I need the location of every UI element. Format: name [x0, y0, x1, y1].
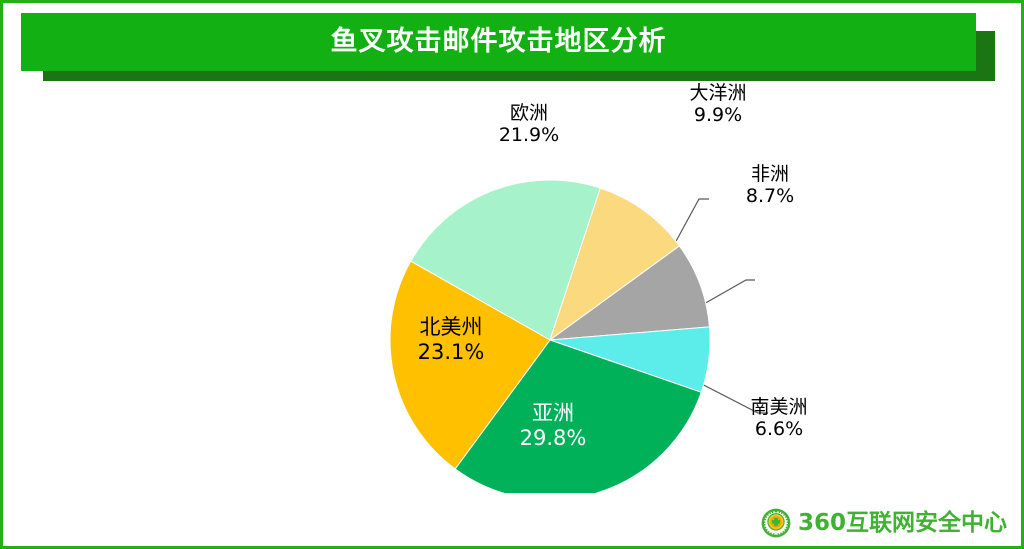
pie-label-europe-percent: 21.9%	[469, 124, 589, 146]
pie-label-oceania-percent: 9.9%	[658, 104, 778, 126]
pie-label-europe: 欧洲 21.9%	[469, 102, 589, 147]
pie-label-asia-percent: 29.8%	[493, 426, 613, 451]
pie-label-africa: 非洲 8.7%	[710, 163, 830, 208]
pie-label-asia: 亚洲 29.8%	[493, 401, 613, 451]
pie-label-north-america-name: 北美州	[391, 315, 511, 340]
pie-label-south-america-percent: 6.6%	[719, 418, 839, 440]
title-bar: 鱼叉攻击邮件攻击地区分析	[21, 13, 976, 71]
page-title: 鱼叉攻击邮件攻击地区分析	[21, 13, 976, 71]
leader-line-africa	[702, 280, 755, 305]
pie-label-north-america: 北美州 23.1%	[391, 315, 511, 365]
pie-label-south-america-name: 南美洲	[719, 396, 839, 418]
pie-label-oceania: 大洋洲 9.9%	[658, 82, 778, 127]
pie-label-africa-percent: 8.7%	[710, 185, 830, 207]
pie-label-oceania-name: 大洋洲	[658, 82, 778, 104]
pie-label-asia-name: 亚洲	[493, 401, 613, 426]
pie-label-south-america: 南美洲 6.6%	[719, 396, 839, 441]
footer-logo-text: 360互联网安全中心	[798, 508, 1007, 538]
footer-logo: 360互联网安全中心	[761, 506, 1013, 540]
pie-label-europe-name: 欧洲	[469, 102, 589, 124]
pie-label-north-america-percent: 23.1%	[391, 340, 511, 365]
360-shield-emblem-icon	[761, 508, 791, 538]
slide-frame: 鱼叉攻击邮件攻击地区分析 欧洲 21.9% 大洋洲 9.9% 非洲 8.7	[0, 0, 1024, 549]
pie-label-africa-name: 非洲	[710, 163, 830, 185]
pie-chart: 欧洲 21.9% 大洋洲 9.9% 非洲 8.7% 南美洲 6.6% 亚洲 29…	[3, 83, 1024, 493]
